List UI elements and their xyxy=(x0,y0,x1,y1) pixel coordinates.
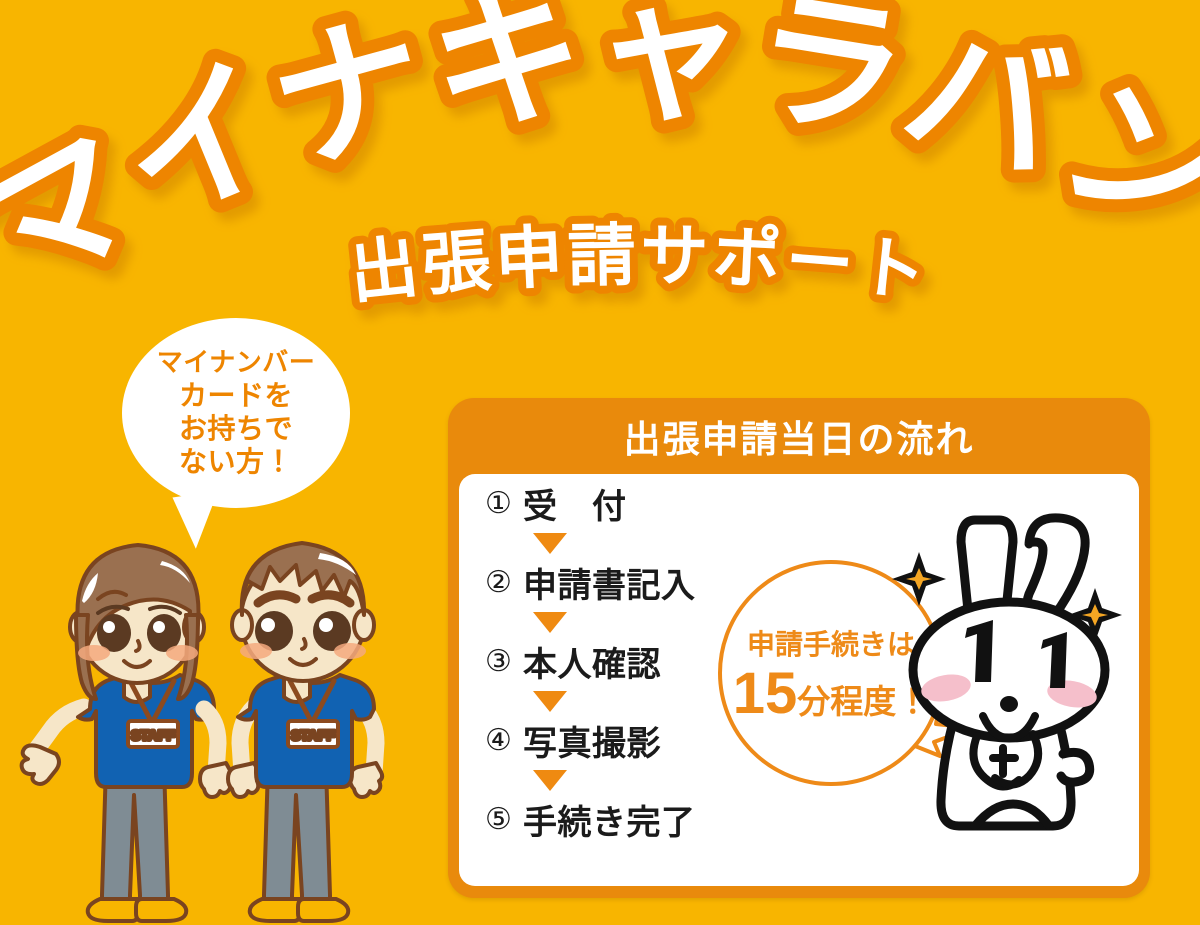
card-holder-question-bubble: マイナンバー カードを お持ちで ない方！ xyxy=(122,318,350,508)
flow-step-4-label: 写真撮影 xyxy=(523,716,661,765)
flow-step-4: ④ 写真撮影 xyxy=(485,717,745,764)
flow-step-2: ② 申請書記入 xyxy=(485,559,745,606)
flow-step-1-number: ① xyxy=(485,486,523,521)
flow-step-4-number: ④ xyxy=(485,723,523,758)
bubble-line-4: ない方！ xyxy=(179,446,293,477)
staff-characters-illustration: STAFF xyxy=(18,495,438,925)
flow-step-3: ③ 本人確認 xyxy=(485,638,745,685)
myna-chan-rabbit xyxy=(883,482,1135,882)
flow-step-2-number: ② xyxy=(485,565,523,600)
flow-arrow-4-icon xyxy=(485,764,745,796)
flow-info-panel: 出張申請当日の流れ ① 受 付 ② 申請書記入 ③ 本人確認 xyxy=(448,398,1150,898)
staff-male-badge-label: STAFF xyxy=(291,727,336,743)
flow-step-1-label: 受 付 xyxy=(523,479,627,528)
flow-step-3-number: ③ xyxy=(485,644,523,679)
flow-step-2-label: 申請書記入 xyxy=(523,558,696,607)
rabbit-head xyxy=(913,602,1105,738)
flow-step-5-label: 手続き完了 xyxy=(523,795,696,844)
flow-arrow-2-icon xyxy=(485,606,745,638)
flow-arrow-1-icon xyxy=(485,527,745,559)
title-main-outline: マイナキャラバン xyxy=(0,0,1200,326)
flow-step-5: ⑤ 手続き完了 xyxy=(485,796,745,843)
time-bubble-value: 15 xyxy=(733,665,798,723)
bubble-line-3: お持ちで xyxy=(179,413,293,444)
bubble-line-1: マイナンバー xyxy=(157,348,315,377)
flow-step-1: ① 受 付 xyxy=(485,480,745,527)
staff-male: STAFF xyxy=(228,543,382,921)
poster-title-block: マイナキャラバン 出張申請サポート xyxy=(0,0,1200,330)
flow-steps-list: ① 受 付 ② 申請書記入 ③ 本人確認 ④ 写真撮影 xyxy=(485,480,745,843)
poster-canvas: マイナキャラバン 出張申請サポート マイナンバー カードを お持ちで ない方！ xyxy=(0,0,1200,925)
staff-female-badge-label: STAFF xyxy=(131,727,176,743)
bubble-line-2: カードを xyxy=(179,380,293,411)
title-sub-outline: 出張申請サポート xyxy=(346,217,934,314)
panel-header-title: 出張申請当日の流れ xyxy=(448,398,1150,474)
staff-female: STAFF xyxy=(22,545,233,921)
sparkle-icon-left xyxy=(892,552,946,606)
flow-step-5-number: ⑤ xyxy=(485,802,523,837)
flow-step-3-label: 本人確認 xyxy=(523,637,661,686)
flow-arrow-3-icon xyxy=(485,685,745,717)
rabbit-tail xyxy=(1061,752,1090,782)
rabbit-nose xyxy=(1000,696,1018,712)
bubble-text: マイナンバー カードを お持ちで ない方！ xyxy=(122,318,350,508)
panel-body: ① 受 付 ② 申請書記入 ③ 本人確認 ④ 写真撮影 xyxy=(459,474,1139,886)
